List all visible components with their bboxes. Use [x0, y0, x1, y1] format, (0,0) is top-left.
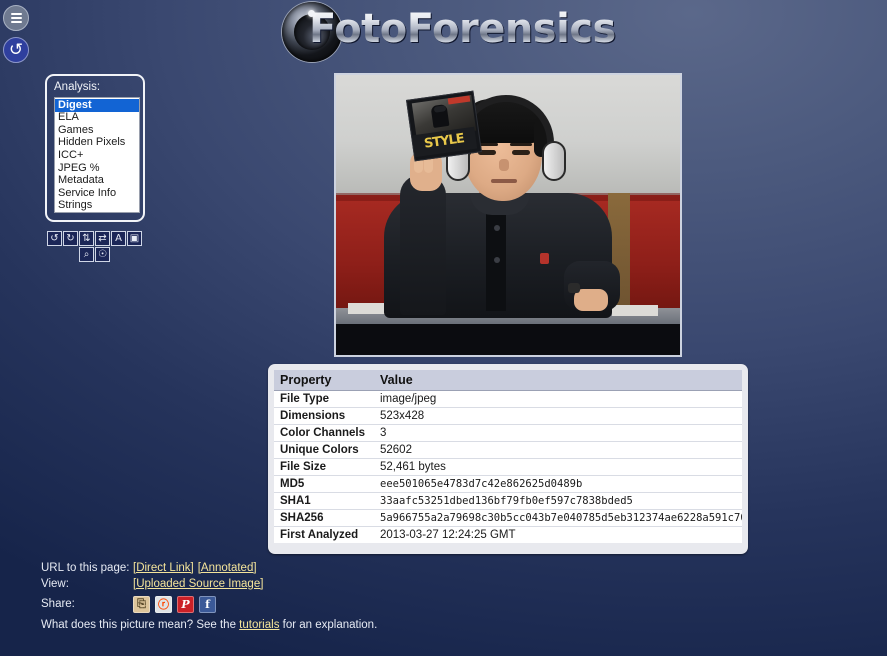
- copy-clipboard-icon[interactable]: ⎘: [133, 596, 150, 613]
- rotate-left-icon[interactable]: ↺: [47, 231, 62, 246]
- text-annotate-icon[interactable]: A: [111, 231, 126, 246]
- analysis-label: Analysis:: [54, 81, 137, 94]
- metadata-table-card: Property Value File Type image/jpeg Dime…: [268, 364, 748, 554]
- explanation-suffix: for an explanation.: [279, 619, 377, 631]
- lightbulb-icon[interactable]: ☉: [95, 247, 110, 262]
- uploaded-source-image-link[interactable]: [Uploaded Source Image]: [133, 578, 263, 590]
- table-row: File Type image/jpeg: [274, 391, 742, 408]
- row-label-dimensions: Dimensions: [274, 408, 374, 425]
- zoom-icon[interactable]: ⌕: [79, 247, 94, 262]
- tutorials-link[interactable]: tutorials: [239, 619, 279, 631]
- flip-vertical-icon[interactable]: ⇅: [79, 231, 94, 246]
- column-header-property: Property: [274, 370, 374, 391]
- row-label-unique-colors: Unique Colors: [274, 442, 374, 459]
- table-row: Dimensions 523x428: [274, 408, 742, 425]
- url-label: URL to this page:: [41, 562, 133, 574]
- row-value-md5: eee501065e4783d7c42e862625d0489b: [374, 476, 742, 493]
- analysis-option-source[interactable]: Source: [55, 212, 139, 213]
- url-row: URL to this page: [Direct Link] [Annotat…: [41, 560, 511, 576]
- explanation-prefix: What does this picture mean? See the: [41, 619, 239, 631]
- image-toolbar-row-2: ⌕ ☉: [79, 247, 110, 262]
- logo-text: FotoForensics: [309, 6, 616, 52]
- row-label-sha1: SHA1: [274, 493, 374, 510]
- hamburger-menu-icon: [11, 11, 22, 25]
- flip-horizontal-icon[interactable]: ⇄: [95, 231, 110, 246]
- lens-highlight-icon: [308, 10, 315, 17]
- pinterest-icon[interactable]: P: [177, 596, 194, 613]
- table-row: Color Channels 3: [274, 425, 742, 442]
- image-toolbar-row-1: ↺ ↻ ⇅ ⇄ A ▣: [47, 231, 142, 246]
- analysis-panel: Analysis: Digest ELA Games Hidden Pixels…: [45, 74, 145, 222]
- table-row: MD5 eee501065e4783d7c42e862625d0489b: [274, 476, 742, 493]
- table-row: SHA256 5a966755a2a79698c30b5cc043b7e0407…: [274, 510, 742, 527]
- row-value-file-type: image/jpeg: [374, 391, 742, 408]
- row-value-unique-colors: 52602: [374, 442, 742, 459]
- analysis-option-games[interactable]: Games: [55, 124, 139, 137]
- facebook-icon[interactable]: f: [199, 596, 216, 613]
- row-label-sha256: SHA256: [274, 510, 374, 527]
- view-label: View:: [41, 578, 133, 590]
- footer-links: URL to this page: [Direct Link] [Annotat…: [41, 560, 511, 615]
- site-logo[interactable]: FotoForensics FotoForensics: [282, 0, 632, 64]
- analysis-option-icc[interactable]: ICC+: [55, 149, 139, 162]
- row-label-file-type: File Type: [274, 391, 374, 408]
- analysis-option-metadata[interactable]: Metadata: [55, 175, 139, 188]
- row-value-dimensions: 523x428: [374, 408, 742, 425]
- rotate-right-icon[interactable]: ↻: [63, 231, 78, 246]
- frame-icon[interactable]: ▣: [127, 231, 142, 246]
- row-value-sha256: 5a966755a2a79698c30b5cc043b7e040785d5eb3…: [374, 510, 742, 527]
- analysis-option-service-info[interactable]: Service Info: [55, 187, 139, 200]
- analysis-option-hidden-pixels[interactable]: Hidden Pixels: [55, 137, 139, 150]
- image-content: STYLE: [336, 75, 680, 355]
- analysis-option-strings[interactable]: Strings: [55, 200, 139, 213]
- analysis-option-jpeg-percent[interactable]: JPEG %: [55, 162, 139, 175]
- table-row: File Size 52,461 bytes: [274, 459, 742, 476]
- explanation-text: What does this picture mean? See the tut…: [41, 619, 377, 631]
- row-label-color-channels: Color Channels: [274, 425, 374, 442]
- reload-icon: ↺: [9, 41, 23, 58]
- row-label-file-size: File Size: [274, 459, 374, 476]
- row-label-first-analyzed: First Analyzed: [274, 527, 374, 544]
- analysis-option-list[interactable]: Digest ELA Games Hidden Pixels ICC+ JPEG…: [54, 97, 140, 213]
- annotated-link[interactable]: [Annotated]: [198, 562, 257, 574]
- reload-button[interactable]: ↺: [3, 37, 29, 63]
- share-row: Share: ⎘ ⓡ P f: [41, 593, 511, 615]
- table-row: First Analyzed 2013-03-27 12:24:25 GMT: [274, 527, 742, 544]
- row-value-file-size: 52,461 bytes: [374, 459, 742, 476]
- table-row: Unique Colors 52602: [274, 442, 742, 459]
- analysis-option-ela[interactable]: ELA: [55, 112, 139, 125]
- hamburger-menu-button[interactable]: [3, 5, 29, 31]
- analysis-option-digest[interactable]: Digest: [55, 99, 139, 112]
- row-value-color-channels: 3: [374, 425, 742, 442]
- view-row: View: [Uploaded Source Image]: [41, 576, 511, 592]
- row-label-md5: MD5: [274, 476, 374, 493]
- table-header-row: Property Value: [274, 370, 742, 391]
- table-row: SHA1 33aafc53251dbed136bf79fb0ef597c7838…: [274, 493, 742, 510]
- row-value-sha1: 33aafc53251dbed136bf79fb0ef597c7838bded5: [374, 493, 742, 510]
- metadata-table: Property Value File Type image/jpeg Dime…: [274, 370, 742, 543]
- direct-link[interactable]: [Direct Link]: [133, 562, 194, 574]
- column-header-value: Value: [374, 370, 742, 391]
- analyzed-image[interactable]: STYLE: [334, 73, 682, 357]
- share-label: Share:: [41, 598, 133, 610]
- reddit-icon[interactable]: ⓡ: [155, 596, 172, 613]
- row-value-first-analyzed: 2013-03-27 12:24:25 GMT: [374, 527, 742, 544]
